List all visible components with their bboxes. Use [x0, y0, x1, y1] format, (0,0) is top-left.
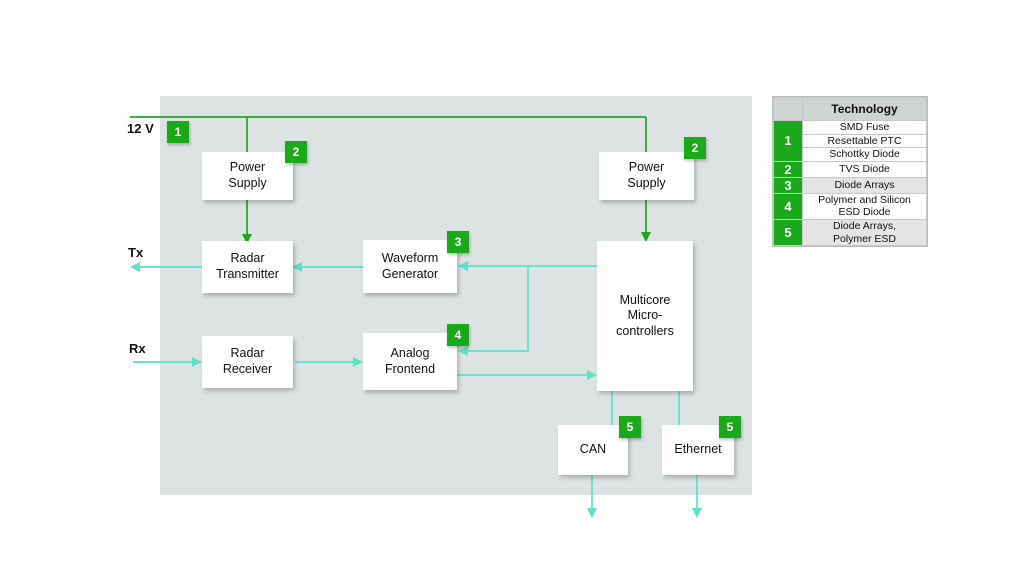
legend-tech-line1: Diode Arrays, — [833, 220, 896, 232]
legend-row[interactable]: 3 Diode Arrays — [774, 177, 927, 193]
block-label-line1: Ethernet — [671, 442, 724, 458]
port-label-12v: 12 V — [127, 121, 154, 136]
legend-row[interactable]: 4 Polymer and Silicon ESD Diode — [774, 193, 927, 219]
badge-power-supply-right[interactable]: 2 — [684, 137, 706, 159]
block-label-line1: Power — [225, 160, 269, 176]
block-label-line2: Supply — [225, 176, 269, 192]
legend-tech-tvs-diode: TVS Diode — [803, 161, 927, 177]
block-label-line2: Transmitter — [213, 267, 282, 283]
badge-power-supply-left[interactable]: 2 — [285, 141, 307, 163]
block-label-line2: Supply — [624, 176, 668, 192]
port-label-rx: Rx — [129, 341, 146, 356]
block-can[interactable]: CAN — [558, 425, 628, 475]
legend-tech-diode-arrays-polymer-esd: Diode Arrays, Polymer ESD — [803, 219, 927, 245]
legend-tech-schottky-diode: Schottky Diode — [803, 148, 927, 162]
block-radar-transmitter[interactable]: Radar Transmitter — [202, 241, 293, 293]
legend-number-5: 5 — [774, 219, 803, 245]
block-multicore-microcontrollers[interactable]: Multicore Micro- controllers — [597, 241, 693, 391]
block-label-line1: Analog — [382, 346, 438, 362]
legend-header-technology: Technology — [803, 98, 927, 121]
block-label-line1: Waveform — [379, 251, 442, 267]
block-analog-frontend[interactable]: Analog Frontend — [363, 333, 457, 390]
legend-header-blank — [774, 98, 803, 121]
block-label-line1: Radar — [220, 346, 275, 362]
legend-number-4: 4 — [774, 193, 803, 219]
legend-number-1: 1 — [774, 121, 803, 162]
legend-header-row: Technology — [774, 98, 927, 121]
badge-12v-input[interactable]: 1 — [167, 121, 189, 143]
legend-number-3: 3 — [774, 177, 803, 193]
diagram-canvas: 12 V Tx Rx Power Supply Power Supply Rad… — [0, 0, 1024, 576]
block-label-line2: Frontend — [382, 362, 438, 378]
legend-tech-line2: Polymer ESD — [833, 233, 896, 245]
legend-table: Technology 1 SMD Fuse Resettable PTC Sch… — [772, 96, 928, 247]
legend-tech-line2: ESD Diode — [839, 206, 891, 218]
badge-analog-frontend[interactable]: 4 — [447, 324, 469, 346]
legend-number-2: 2 — [774, 161, 803, 177]
block-power-supply-right[interactable]: Power Supply — [599, 152, 694, 200]
block-label-line1: Power — [624, 160, 668, 176]
badge-waveform-generator[interactable]: 3 — [447, 231, 469, 253]
legend-tech-resettable-ptc: Resettable PTC — [803, 134, 927, 148]
block-label-line1: Multicore — [613, 293, 677, 309]
badge-ethernet[interactable]: 5 — [719, 416, 741, 438]
legend-row[interactable]: 5 Diode Arrays, Polymer ESD — [774, 219, 927, 245]
block-label-line2: Receiver — [220, 362, 275, 378]
legend-tech-diode-arrays: Diode Arrays — [803, 177, 927, 193]
block-label-line2: Generator — [379, 267, 442, 283]
legend-tech-smd-fuse: SMD Fuse — [803, 121, 927, 135]
legend-row[interactable]: 2 TVS Diode — [774, 161, 927, 177]
block-label-line3: controllers — [613, 324, 677, 340]
block-label-line1: CAN — [577, 442, 609, 458]
legend-row[interactable]: 1 SMD Fuse — [774, 121, 927, 135]
port-label-tx: Tx — [128, 245, 143, 260]
block-power-supply-left[interactable]: Power Supply — [202, 152, 293, 200]
legend-tech-line1: Polymer and Silicon — [818, 194, 911, 206]
legend-tech-polymer-silicon-esd-diode: Polymer and Silicon ESD Diode — [803, 193, 927, 219]
block-radar-receiver[interactable]: Radar Receiver — [202, 336, 293, 388]
block-waveform-generator[interactable]: Waveform Generator — [363, 240, 457, 293]
block-label-line2: Micro- — [613, 308, 677, 324]
block-label-line1: Radar — [213, 251, 282, 267]
badge-can[interactable]: 5 — [619, 416, 641, 438]
